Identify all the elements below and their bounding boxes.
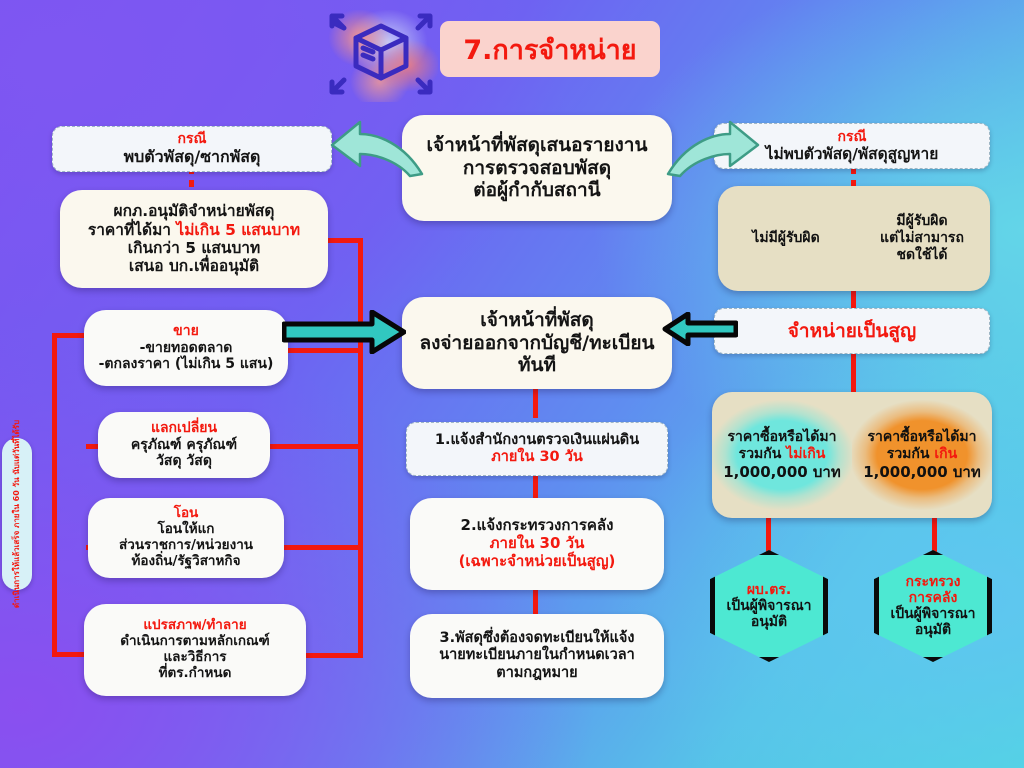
approver-ministry[interactable]: กระทรวง การคลัง เป็นผู้พิจารณา อนุมัติ bbox=[874, 550, 992, 662]
center-step-3[interactable]: 3.พัสดุซึ่งต้องจดทะเบียนให้แจ้ง นายทะเบี… bbox=[410, 614, 664, 698]
approver-1-line2: อนุมัติ bbox=[726, 614, 811, 630]
approver-2-title-line2: การคลัง bbox=[890, 590, 975, 606]
left-method-transfer[interactable]: โอน โอนให้แก ส่วนราชการ/หน่วยงาน ท้องถิ่… bbox=[88, 498, 284, 578]
package-box-icon bbox=[316, 4, 446, 108]
center-mid-line3: ทันที bbox=[410, 354, 664, 376]
approval-line2: ราคาที่ได้มา ไม่เกิน 5 แสนบาท bbox=[68, 221, 320, 239]
step2-line1: 2.แจ้งกระทรวงการคลัง bbox=[418, 517, 656, 535]
approval-line4: เสนอ บก.เพื่ออนุมัติ bbox=[68, 257, 320, 275]
arrow-right-curved-icon bbox=[664, 118, 764, 180]
method-exchange-line1: ครุภัณฑ์ ครุภัณฑ์ bbox=[106, 437, 262, 454]
right-liability-panel[interactable]: ไม่มีผู้รับผิด มีผู้รับผิด แต่ไม่สามารถ … bbox=[718, 186, 990, 291]
amount-1-line1: ราคาซื้อหรือได้มา bbox=[723, 429, 841, 446]
arrow-left-curved-icon bbox=[326, 118, 426, 180]
side-note-deadline: ดำเนินการให้แล้วเสร็จ ภายใน 60 วัน นับแต… bbox=[2, 438, 32, 590]
center-mid-line2: ลงจ่ายออกจากบัญชี/ทะเบียน bbox=[410, 332, 664, 354]
center-mid-box[interactable]: เจ้าหน้าที่พัสดุ ลงจ่ายออกจากบัญชี/ทะเบี… bbox=[402, 297, 672, 389]
approver-1-line1: เป็นผู้พิจารณา bbox=[726, 598, 811, 614]
amount-2-line2-a: รวมกัน bbox=[887, 446, 935, 462]
write-off-label: จำหน่ายเป็นสูญ bbox=[723, 320, 981, 342]
approver-1-title: ผบ.ตร. bbox=[726, 582, 811, 598]
approver-commissioner[interactable]: ผบ.ตร. เป็นผู้พิจารณา อนุมัติ bbox=[710, 550, 828, 662]
method-transfer-line2: ส่วนราชการ/หน่วยงาน bbox=[96, 538, 276, 554]
method-sell-line1: -ขายทอดตลาด bbox=[92, 340, 280, 357]
amount-not-exceed: ราคาซื้อหรือได้มา รวมกัน ไม่เกิน 1,000,0… bbox=[712, 392, 852, 518]
step2-line2: ภายใน 30 วัน bbox=[418, 535, 656, 553]
method-sell-line2: -ตกลงราคา (ไม่เกิน 5 แสน) bbox=[92, 356, 280, 373]
approver-2-line1: เป็นผู้พิจารณา bbox=[890, 606, 975, 622]
left-case-subtitle: พบตัวพัสดุ/ซากพัสดุ bbox=[61, 148, 323, 167]
arrow-right-bold-icon bbox=[282, 310, 406, 354]
connector-left-spine bbox=[52, 333, 57, 657]
amount-2-line3: 1,000,000 บาท bbox=[863, 463, 981, 481]
connector-right-4 bbox=[932, 518, 937, 552]
left-approval-box[interactable]: ผกภ.อนุมัติจำหน่ายพัสดุ ราคาที่ได้มา ไม่… bbox=[60, 190, 328, 288]
method-transfer-title: โอน bbox=[96, 506, 276, 522]
center-top-line2: การตรวจสอบพัสดุ bbox=[410, 157, 664, 179]
page-title: 7.การจำหน่าย bbox=[440, 21, 660, 77]
step3-line1: 3.พัสดุซึ่งต้องจดทะเบียนให้แจ้ง bbox=[418, 630, 656, 647]
approver-2-title-line1: กระทรวง bbox=[890, 574, 975, 590]
amount-2-line1: ราคาซื้อหรือได้มา bbox=[863, 429, 981, 446]
method-transfer-line1: โอนให้แก bbox=[96, 522, 276, 538]
method-exchange-line2: วัสดุ วัสดุ bbox=[106, 453, 262, 470]
approval-line2-b: ไม่เกิน 5 แสนบาท bbox=[176, 221, 300, 239]
arrow-left-bold-icon bbox=[662, 312, 738, 346]
liability-left-line1: ไม่มีผู้รับผิด bbox=[752, 230, 819, 247]
step3-line2: นายทะเบียนภายในกำหนดเวลา bbox=[418, 647, 656, 664]
left-case-header[interactable]: กรณี พบตัวพัสดุ/ซากพัสดุ bbox=[52, 126, 332, 172]
method-destroy-title: แปรสภาพ/ทำลาย bbox=[92, 618, 298, 634]
method-destroy-line3: ที่ตร.กำหนด bbox=[92, 666, 298, 682]
method-destroy-line2: และวิธีการ bbox=[92, 650, 298, 666]
connector-right-3 bbox=[766, 518, 771, 552]
method-sell-title: ขาย bbox=[92, 323, 280, 340]
connector-center-1 bbox=[533, 388, 538, 418]
side-note-text: ดำเนินการให้แล้วเสร็จ ภายใน 60 วัน นับแต… bbox=[12, 420, 22, 608]
center-mid-line1: เจ้าหน้าที่พัสดุ bbox=[410, 309, 664, 331]
method-transfer-line3: ท้องถิ่น/รัฐวิสาหกิจ bbox=[96, 554, 276, 570]
amount-1-line2: รวมกัน ไม่เกิน bbox=[723, 446, 841, 463]
liability-right-line3: ชดใช้ได้ bbox=[880, 247, 964, 264]
step3-line3: ตามกฎหมาย bbox=[418, 665, 656, 682]
connector-center-3 bbox=[533, 588, 538, 616]
amount-2-line2-b: เกิน bbox=[934, 446, 957, 462]
center-step-2[interactable]: 2.แจ้งกระทรวงการคลัง ภายใน 30 วัน (เฉพาะ… bbox=[410, 498, 664, 590]
step1-line2: ภายใน 30 วัน bbox=[415, 449, 659, 466]
approval-line2-a: ราคาที่ได้มา bbox=[88, 221, 177, 239]
left-method-exchange[interactable]: แลกเปลี่ยน ครุภัณฑ์ ครุภัณฑ์ วัสดุ วัสดุ bbox=[98, 412, 270, 478]
left-case-title: กรณี bbox=[61, 131, 323, 148]
method-destroy-line1: ดำเนินการตามหลักเกณฑ์ bbox=[92, 634, 298, 650]
approver-2-line2: อนุมัติ bbox=[890, 622, 975, 638]
amount-1-line2-b: ไม่เกิน bbox=[786, 446, 825, 462]
liability-right-line2: แต่ไม่สามารถ bbox=[880, 230, 964, 247]
right-amounts-panel[interactable]: ราคาซื้อหรือได้มา รวมกัน ไม่เกิน 1,000,0… bbox=[712, 392, 992, 518]
right-write-off-box[interactable]: จำหน่ายเป็นสูญ bbox=[714, 308, 990, 354]
approval-line1: ผกภ.อนุมัติจำหน่ายพัสดุ bbox=[68, 202, 320, 220]
amount-1-line2-a: รวมกัน bbox=[739, 446, 787, 462]
method-exchange-title: แลกเปลี่ยน bbox=[106, 420, 262, 437]
amount-1-line3: 1,000,000 บาท bbox=[723, 463, 841, 481]
center-top-box[interactable]: เจ้าหน้าที่พัสดุเสนอรายงาน การตรวจสอบพัส… bbox=[402, 115, 672, 221]
step2-line3: (เฉพาะจำหน่วยเป็นสูญ) bbox=[418, 553, 656, 571]
approval-line3: เกินกว่า 5 แสนบาท bbox=[68, 239, 320, 257]
center-top-line1: เจ้าหน้าที่พัสดุเสนอรายงาน bbox=[410, 134, 664, 156]
amount-exceed: ราคาซื้อหรือได้มา รวมกัน เกิน 1,000,000 … bbox=[852, 392, 992, 518]
liability-no-responsible: ไม่มีผู้รับผิด bbox=[718, 186, 854, 291]
amount-2-line2: รวมกัน เกิน bbox=[863, 446, 981, 463]
step1-line1: 1.แจ้งสำนักงานตรวจเงินแผ่นดิน bbox=[415, 432, 659, 449]
left-method-destroy[interactable]: แปรสภาพ/ทำลาย ดำเนินการตามหลักเกณฑ์ และว… bbox=[84, 604, 306, 696]
left-method-sell[interactable]: ขาย -ขายทอดตลาด -ตกลงราคา (ไม่เกิน 5 แสน… bbox=[84, 310, 288, 386]
liability-has-responsible: มีผู้รับผิด แต่ไม่สามารถ ชดใช้ได้ bbox=[854, 186, 990, 291]
center-step-1[interactable]: 1.แจ้งสำนักงานตรวจเงินแผ่นดิน ภายใน 30 ว… bbox=[406, 422, 668, 476]
liability-right-line1: มีผู้รับผิด bbox=[880, 213, 964, 230]
center-top-line3: ต่อผู้กำกับสถานี bbox=[410, 179, 664, 201]
